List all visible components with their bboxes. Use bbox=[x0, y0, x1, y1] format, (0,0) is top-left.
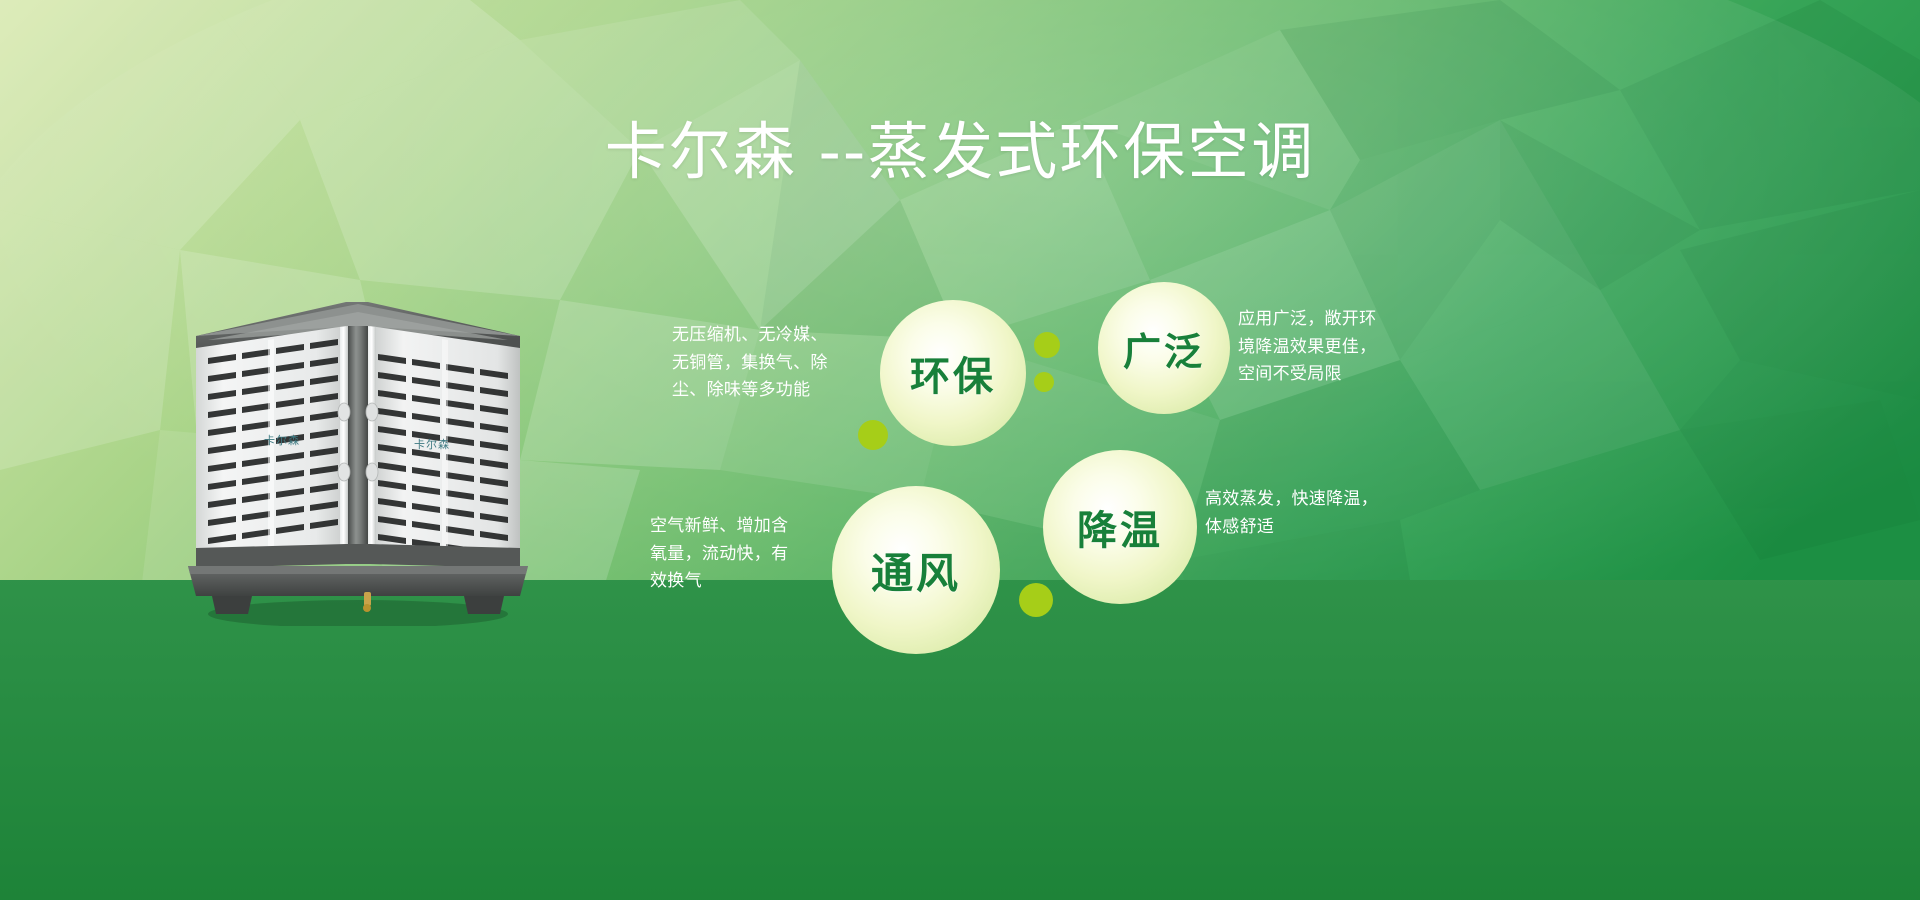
unit-logo-left: 卡尔森 bbox=[264, 433, 300, 447]
feature-bubble-huanbao[interactable]: 环保 bbox=[880, 300, 1026, 446]
feature-bubble-guangfan[interactable]: 广泛 bbox=[1098, 282, 1230, 414]
accent-dot-icon bbox=[1019, 583, 1053, 617]
product-air-cooler-unit: 卡尔森 卡尔森 bbox=[168, 296, 548, 626]
feature-caption-jiangwen: 高效蒸发，快速降温， 体感舒适 bbox=[1205, 486, 1431, 541]
feature-bubble-label: 环保 bbox=[910, 344, 996, 402]
feature-bubble-label: 通风 bbox=[871, 540, 961, 601]
feature-bubble-label: 降温 bbox=[1077, 498, 1163, 556]
feature-caption-guangfan: 应用广泛，敞开环 境降温效果更佳， 空间不受局限 bbox=[1238, 306, 1438, 389]
accent-dot-icon bbox=[1034, 372, 1054, 392]
feature-bubble-jiangwen[interactable]: 降温 bbox=[1043, 450, 1197, 604]
promo-banner: 卡尔森 --蒸发式环保空调 bbox=[0, 0, 1920, 900]
accent-dot-icon bbox=[1034, 332, 1060, 358]
accent-dot-icon bbox=[858, 420, 888, 450]
feature-bubble-tongfeng[interactable]: 通风 bbox=[832, 486, 1000, 654]
feature-caption-tongfeng: 空气新鲜、增加含 氧量，流动快，有 效换气 bbox=[650, 513, 842, 596]
feature-caption-huanbao: 无压缩机、无冷媒、 无铜管，集换气、除 尘、除味等多功能 bbox=[672, 322, 868, 405]
unit-logo-right: 卡尔森 bbox=[414, 437, 450, 451]
feature-bubble-label: 广泛 bbox=[1123, 321, 1205, 376]
page-title: 卡尔森 --蒸发式环保空调 bbox=[0, 118, 1920, 186]
